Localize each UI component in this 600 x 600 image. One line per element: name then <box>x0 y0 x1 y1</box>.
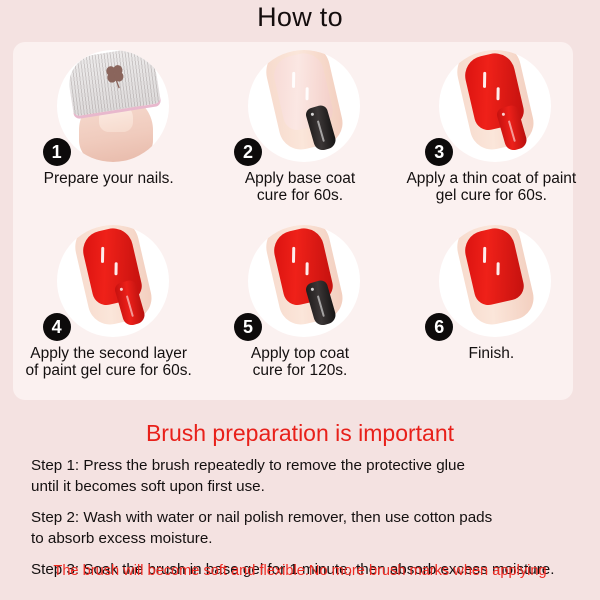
step-caption-6: Finish. <box>468 345 514 362</box>
brush-highlight <box>311 287 315 291</box>
nail-shine <box>114 262 117 275</box>
brush-slit <box>317 295 325 317</box>
step-card-3: 3 Apply a thin coat of paint gel cure fo… <box>396 44 587 219</box>
nail-shine <box>101 247 104 263</box>
nail-file-icon <box>65 50 161 117</box>
brush-highlight <box>119 287 123 291</box>
nail-shine <box>497 262 500 275</box>
nail-shine <box>497 87 500 100</box>
step-badge-2: 2 <box>234 138 262 166</box>
nail-shine <box>483 72 486 88</box>
brush-prep-heading: Brush preparation is important <box>0 420 600 447</box>
step-photo-3 <box>439 50 551 162</box>
step-badge-1: 1 <box>43 138 71 166</box>
step-badge-5: 5 <box>234 313 262 341</box>
nail-shine <box>292 247 295 263</box>
step-figure-5: 5 <box>234 225 366 343</box>
finger-shape <box>452 225 538 329</box>
brush-prep-note: The brush will become soft and flexible.… <box>0 563 600 579</box>
step-caption-1: Prepare your nails. <box>44 170 174 187</box>
nail-shine <box>483 247 486 263</box>
step-caption-4: Apply the second layer of paint gel cure… <box>26 345 192 379</box>
step-caption-2: Apply base coat cure for 60s. <box>245 170 355 204</box>
step-badge-3: 3 <box>425 138 453 166</box>
brush-slit <box>317 120 325 142</box>
nail-shine <box>292 72 295 88</box>
page-title: How to <box>0 2 600 33</box>
step-card-6: 6 Finish. <box>396 219 587 394</box>
brush-slit <box>508 120 516 142</box>
step-figure-2: 2 <box>234 50 366 168</box>
step-badge-4: 4 <box>43 313 71 341</box>
step-figure-4: 4 <box>43 225 175 343</box>
step-photo-6 <box>439 225 551 337</box>
step-photo-1 <box>57 50 169 162</box>
step-card-4: 4 Apply the second layer of paint gel cu… <box>13 219 204 394</box>
step-photo-5 <box>248 225 360 337</box>
brush-prep-step-1: Step 1: Press the brush repeatedly to re… <box>0 455 600 497</box>
brush-prep-step-2: Step 2: Wash with water or nail polish r… <box>0 507 600 549</box>
how-to-infographic: How to <box>0 0 600 600</box>
step-card-1: 1 Prepare your nails. <box>13 44 204 219</box>
step-photo-2 <box>248 50 360 162</box>
nail-shine <box>305 262 308 275</box>
step-figure-6: 6 <box>425 225 557 343</box>
step-caption-5: Apply top coat cure for 120s. <box>251 345 349 379</box>
step-photo-4 <box>57 225 169 337</box>
brush-slit <box>126 295 134 317</box>
step-caption-3: Apply a thin coat of paint gel cure for … <box>406 170 576 204</box>
clover-logo-icon <box>102 62 128 91</box>
brush-highlight <box>311 112 315 116</box>
nail-shine <box>305 87 308 100</box>
step-card-5: 5 Apply top coat cure for 120s. <box>204 219 395 394</box>
step-badge-6: 6 <box>425 313 453 341</box>
step-figure-1: 1 <box>43 50 175 168</box>
finished-nail-icon <box>462 225 527 308</box>
step-figure-3: 3 <box>425 50 557 168</box>
step-card-2: 2 Apply base coat cure for 60s. <box>204 44 395 219</box>
steps-grid: 1 Prepare your nails. <box>13 44 587 394</box>
brush-highlight <box>502 112 506 116</box>
